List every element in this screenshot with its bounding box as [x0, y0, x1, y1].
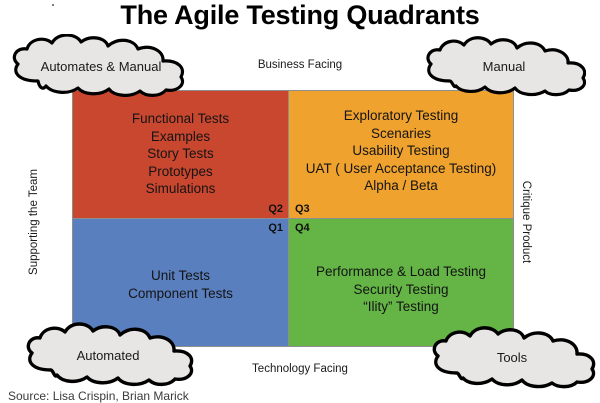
- quadrant-item: Simulations: [73, 180, 288, 198]
- quadrant-q3-items: Exploratory TestingScenariesUsability Te…: [289, 107, 513, 195]
- cloud-label-automates-manual: Automates & Manual: [8, 59, 194, 74]
- quadrant-item: Functional Tests: [73, 110, 288, 128]
- quadrant-q2-code: Q2: [268, 203, 283, 215]
- cloud-tools: Tools: [428, 326, 596, 390]
- cloud-automates-manual: Automates & Manual: [8, 34, 194, 98]
- quadrant-item: Unit Tests: [73, 267, 288, 285]
- cloud-automated: Automated: [22, 322, 194, 388]
- quadrant-item: Story Tests: [73, 145, 288, 163]
- quadrant-q4-items: Performance & Load TestingSecurity Testi…: [289, 263, 513, 316]
- cloud-label-automated: Automated: [22, 348, 194, 363]
- quadrant-item: Exploratory Testing: [289, 107, 513, 125]
- axis-label-technology-facing: Technology Facing: [210, 363, 390, 375]
- cloud-label-manual: Manual: [422, 59, 586, 74]
- quadrant-matrix: Functional TestsExamplesStory TestsProto…: [72, 90, 513, 346]
- quadrant-q3: Exploratory TestingScenariesUsability Te…: [288, 90, 514, 219]
- quadrant-item: Examples: [73, 128, 288, 146]
- cloud-label-tools: Tools: [428, 350, 596, 365]
- quadrant-q3-code: Q3: [295, 203, 310, 215]
- quadrant-q2: Functional TestsExamplesStory TestsProto…: [72, 90, 289, 219]
- quadrant-q1-code: Q1: [268, 222, 283, 234]
- quadrant-q2-items: Functional TestsExamplesStory TestsProto…: [73, 110, 288, 198]
- quadrant-item: Component Tests: [73, 285, 288, 303]
- quadrant-item: Performance & Load Testing: [289, 263, 513, 281]
- source-credit: Source: Lisa Crispin, Brian Marick: [8, 389, 189, 403]
- cloud-manual: Manual: [422, 36, 586, 98]
- quadrant-item: Security Testing: [289, 281, 513, 299]
- page-title: The Agile Testing Quadrants: [0, 0, 600, 32]
- quadrant-item: “Ility” Testing: [289, 298, 513, 316]
- quadrant-q1-items: Unit TestsComponent Tests: [73, 267, 288, 302]
- quadrant-item: Prototypes: [73, 163, 288, 181]
- quadrant-item: UAT ( User Acceptance Testing): [289, 160, 513, 178]
- quadrant-q4-code: Q4: [295, 222, 310, 234]
- axis-label-critique-product: Critique Product: [520, 162, 532, 282]
- quadrant-item: Scenaries: [289, 125, 513, 143]
- quadrant-item: Alpha / Beta: [289, 177, 513, 195]
- axis-label-supporting-the-team: Supporting the Team: [28, 162, 40, 282]
- quadrant-item: Usability Testing: [289, 142, 513, 160]
- axis-label-business-facing: Business Facing: [210, 59, 390, 71]
